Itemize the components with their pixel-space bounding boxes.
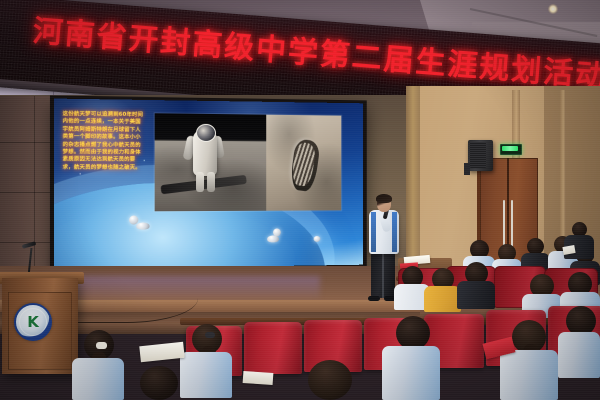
presenter-jacket-stripe (392, 212, 397, 252)
paper-sheet (243, 371, 274, 385)
audience-head (140, 366, 178, 400)
astronaut-on-moon-photo (155, 113, 267, 211)
school-emblem: K (14, 303, 52, 341)
audience-torso (500, 350, 558, 400)
auditorium-photo: 河南省开封高级中学第二届生涯规划活动 这份航天梦可以追溯到60年时间内他的一点连… (0, 0, 600, 400)
audience-torso (180, 352, 232, 398)
paper-sheet (139, 342, 184, 363)
door-handle[interactable] (511, 200, 513, 248)
exit-sign-icon (502, 146, 518, 151)
floating-astronaut-icon (267, 235, 279, 242)
presenter-shoe (368, 296, 380, 301)
audience-head (396, 316, 430, 350)
hair-clip (96, 342, 107, 349)
audience-torso (457, 281, 495, 309)
floating-astronaut-icon (314, 236, 321, 242)
presenter-hair (376, 194, 392, 203)
audience-torso (558, 332, 600, 378)
audience-torso (72, 358, 124, 400)
astronaut-leg (196, 172, 204, 192)
door-handle[interactable] (503, 200, 505, 248)
audience-torso (424, 286, 461, 312)
floating-astronaut-icon (136, 222, 149, 229)
projection-screen: 这份航天梦可以追溯到60年时间内他的一点连续，一本关于美国宇航员阿姆斯特朗在月球… (54, 99, 363, 270)
moon-bootprint-photo (266, 115, 341, 211)
presenter-jacket-stripe (371, 212, 376, 252)
hair-clip (205, 332, 215, 338)
astronaut-leg (207, 172, 215, 192)
loudspeaker-bracket (464, 163, 470, 175)
auditorium-seat[interactable] (244, 322, 302, 374)
audience-torso (382, 346, 440, 400)
astronaut-helmet (196, 124, 216, 142)
audience-head (308, 360, 352, 400)
slide-text-block: 这份航天梦可以追溯到60年时间内他的一点连续，一本关于美国宇航员阿姆斯特朗在月球… (63, 111, 146, 172)
presenter-trouser-stripe (382, 254, 384, 298)
slide-photo-group (154, 112, 343, 212)
loudspeaker-grille-icon (470, 142, 486, 168)
emblem-ring (19, 308, 47, 336)
downlight-icon (548, 4, 558, 14)
